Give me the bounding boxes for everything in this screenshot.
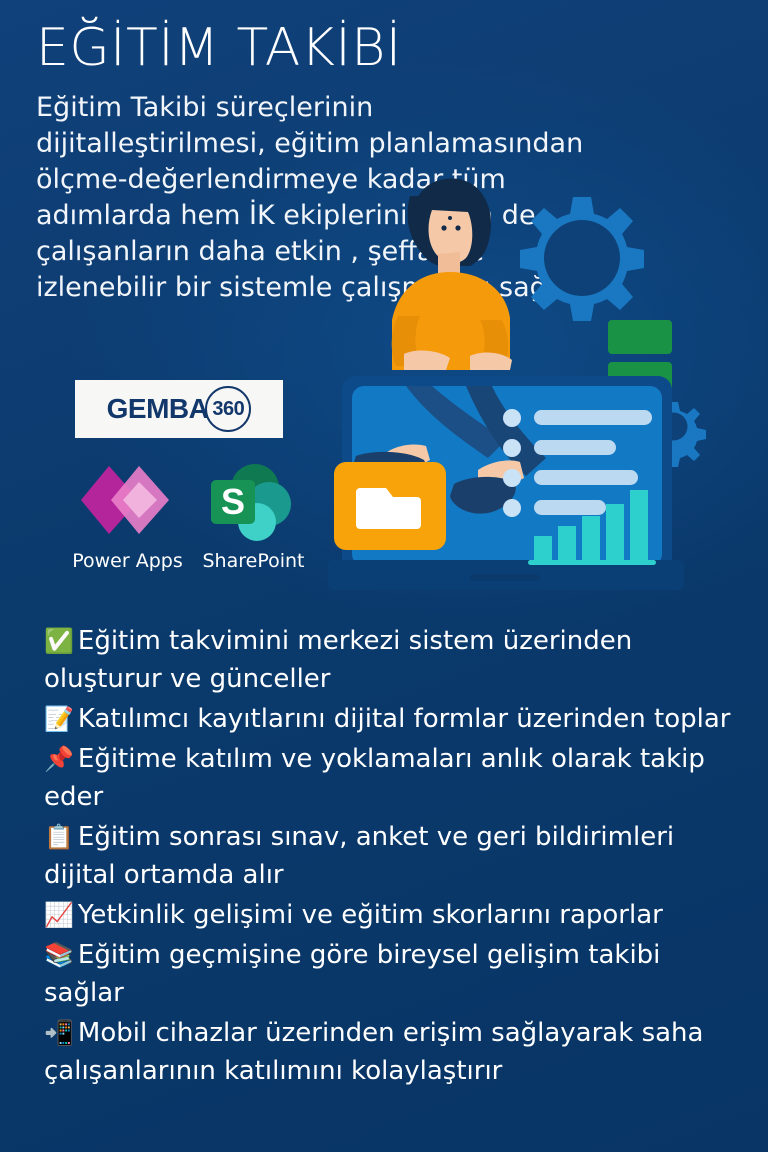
gemba-360-badge: 360 — [205, 386, 251, 432]
list-item: 📚Eğitim geçmişine göre bireysel gelişim … — [44, 936, 734, 1012]
list-item: 📈Yetkinlik gelişimi ve eğitim skorlarını… — [44, 896, 734, 934]
clipboard-icon: 📋 — [44, 823, 74, 851]
brand-label: SharePoint — [196, 550, 311, 572]
list-item-text: Mobil cihazlar üzerinden erişim sağlayar… — [44, 1018, 703, 1086]
list-item-text: Eğitim takvimini merkezi sistem üzerinde… — [44, 626, 632, 694]
gemba-wordmark: GEMBA — [107, 393, 209, 425]
svg-text:S: S — [220, 481, 244, 522]
large-gear-icon — [520, 197, 644, 321]
sharepoint-icon: S — [199, 462, 309, 546]
list-item-text: Eğitim sonrası sınav, anket ve geri bild… — [44, 822, 674, 890]
brand-power-apps: Power Apps — [70, 462, 185, 572]
list-item-text: Katılımcı kayıtlarını dijital formlar üz… — [78, 704, 731, 734]
list-item-text: Eğitim geçmişine göre bireysel gelişim t… — [44, 940, 660, 1008]
mobile-phone-with-arrow-icon: 📲 — [44, 1019, 74, 1047]
brand-logos: Power Apps S SharePoint — [70, 462, 320, 582]
list-item: 📲Mobil cihazlar üzerinden erişim sağlaya… — [44, 1014, 734, 1090]
brand-sharepoint: S SharePoint — [196, 462, 311, 572]
pushpin-icon: 📌 — [44, 745, 74, 773]
list-item: ✅Eğitim takvimini merkezi sistem üzerind… — [44, 622, 734, 698]
page-title: EĞİTİM TAKİBİ — [36, 18, 402, 78]
gemba360-logo: GEMBA 360 — [75, 380, 283, 438]
person-at-laptop — [392, 178, 512, 370]
feature-list: ✅Eğitim takvimini merkezi sistem üzerind… — [44, 622, 734, 1092]
check-mark-button-icon: ✅ — [44, 627, 74, 655]
hero-illustration — [320, 140, 768, 600]
folder-icon — [334, 462, 446, 550]
power-apps-icon — [73, 462, 183, 546]
brand-label: Power Apps — [70, 550, 185, 572]
books-icon: 📚 — [44, 941, 74, 969]
infographic-page: EĞİTİM TAKİBİ Eğitim Takibi süreçlerinin… — [0, 0, 768, 1152]
chart-increasing-icon: 📈 — [44, 901, 74, 929]
memo-icon: 📝 — [44, 705, 74, 733]
list-item: 📋Eğitim sonrası sınav, anket ve geri bil… — [44, 818, 734, 894]
list-item-text: Eğitime katılım ve yoklamaları anlık ola… — [44, 744, 705, 812]
list-item: 📌Eğitime katılım ve yoklamaları anlık ol… — [44, 740, 734, 816]
list-item-text: Yetkinlik gelişimi ve eğitim skorlarını … — [78, 900, 663, 930]
list-item: 📝Katılımcı kayıtlarını dijital formlar ü… — [44, 700, 734, 738]
